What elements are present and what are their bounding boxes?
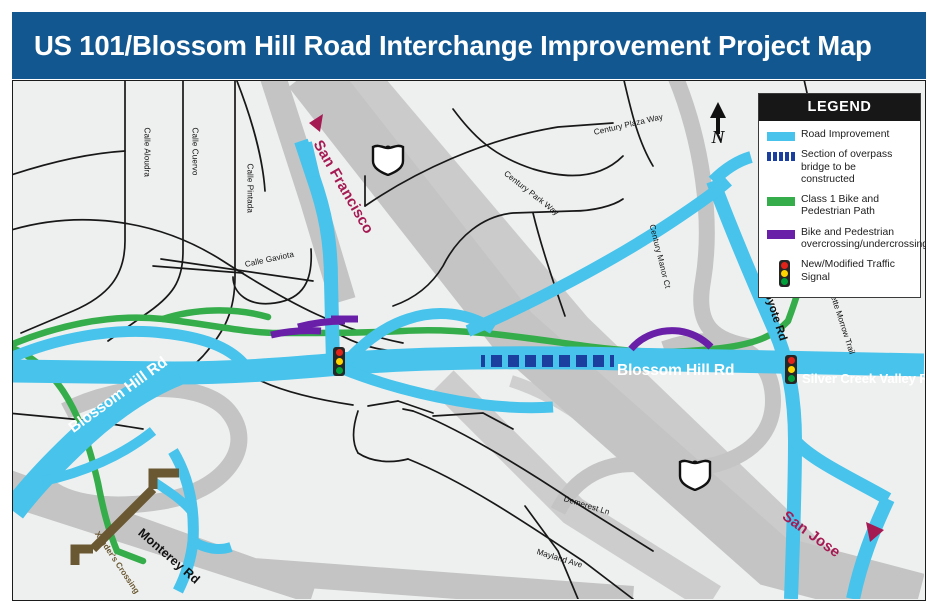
legend-swatch-wrap	[767, 149, 801, 161]
signal-lamp-red	[336, 349, 343, 356]
legend-item-road-improvement: Road Improvement	[767, 129, 912, 141]
legend-items: Road Improvement Section of overpass bri…	[759, 121, 920, 297]
legend-label-overcrossing: Bike and Pedestrian overcrossing/undercr…	[801, 227, 926, 252]
san-jose-arrow-icon	[865, 521, 885, 543]
legend-label-bike-path: Class 1 Bike and Pedestrian Path	[801, 194, 912, 219]
route-shield-101-north	[369, 143, 407, 176]
legend-swatch-wrap	[767, 259, 801, 287]
legend-swatch-wrap	[767, 227, 801, 239]
traffic-signal-west	[333, 347, 345, 376]
signal-lamp-yellow	[781, 270, 788, 277]
legend-label-traffic-signal: New/Modified Traffic Signal	[801, 259, 912, 284]
signal-lamp-yellow	[788, 366, 795, 373]
legend-item-bridge-section: Section of overpass bridge to be constru…	[767, 149, 912, 186]
title-bar: US 101/Blossom Hill Road Interchange Imp…	[12, 12, 926, 79]
legend-item-traffic-signal: New/Modified Traffic Signal	[767, 259, 912, 287]
signal-lamp-green	[788, 375, 795, 382]
legend-swatch-wrap	[767, 194, 801, 206]
legend-title: LEGEND	[759, 94, 920, 121]
legend-box: LEGEND Road Improvement Section of overp…	[758, 93, 921, 298]
signal-lamp-yellow	[336, 358, 343, 365]
traffic-signal-swatch-icon	[779, 260, 790, 287]
traffic-signal-east	[785, 355, 797, 384]
legend-label-road-improvement: Road Improvement	[801, 129, 889, 141]
map-canvas: N 101 101 San Francisco San Jose Blossom…	[12, 80, 926, 601]
san-francisco-arrow-icon	[307, 113, 325, 133]
bike-path-swatch-icon	[767, 197, 795, 206]
signal-lamp-green	[781, 278, 788, 285]
north-arrow-icon	[705, 100, 731, 144]
legend-label-bridge-section: Section of overpass bridge to be constru…	[801, 149, 912, 186]
overcrossing-swatch-icon	[767, 230, 795, 239]
route-shield-101-south	[676, 458, 714, 491]
bridge-section-dashes	[481, 355, 614, 367]
road-improvement-swatch-icon	[767, 132, 795, 141]
page-title: US 101/Blossom Hill Road Interchange Imp…	[34, 30, 872, 62]
bridge-section-swatch-icon	[767, 152, 796, 161]
signal-lamp-red	[788, 357, 795, 364]
legend-item-overcrossing: Bike and Pedestrian overcrossing/undercr…	[767, 227, 912, 252]
legend-swatch-wrap	[767, 129, 801, 141]
map-page: US 101/Blossom Hill Road Interchange Imp…	[0, 0, 938, 613]
legend-item-bike-path: Class 1 Bike and Pedestrian Path	[767, 194, 912, 219]
signal-lamp-red	[781, 262, 788, 269]
signal-lamp-green	[336, 367, 343, 374]
